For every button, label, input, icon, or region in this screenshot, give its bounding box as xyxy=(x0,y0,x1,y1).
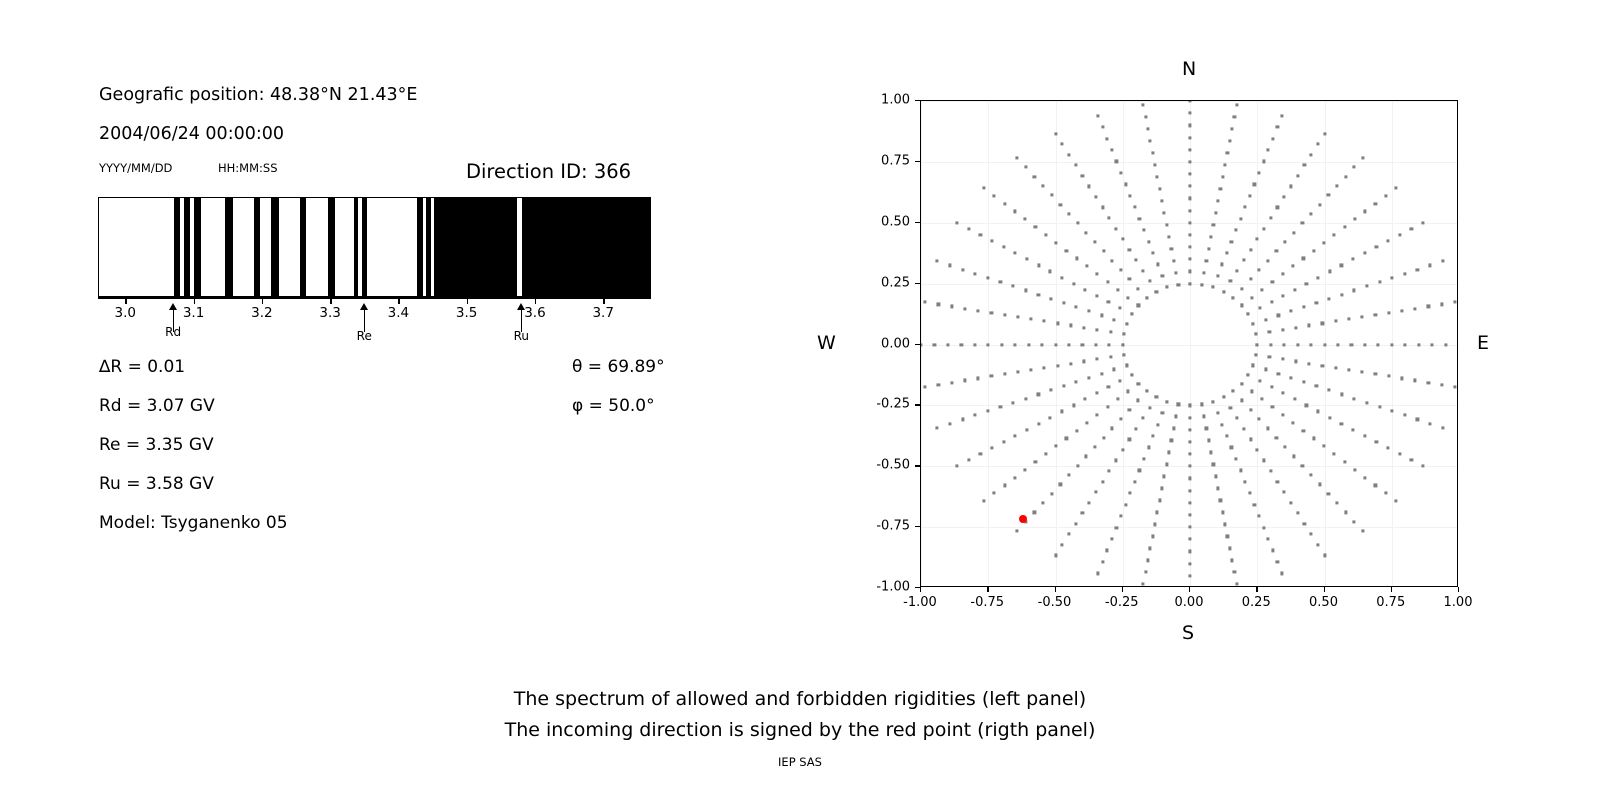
scatter-point xyxy=(1002,440,1005,443)
scatter-point xyxy=(967,459,970,462)
scatter-point xyxy=(1188,270,1191,273)
scatter-point xyxy=(1271,549,1274,552)
scatter-point xyxy=(1156,423,1159,426)
scatter-point xyxy=(986,410,989,413)
scatter-point xyxy=(1353,468,1356,471)
scatter-point xyxy=(950,305,953,308)
scatter-point xyxy=(1110,537,1113,540)
scatter-point xyxy=(1323,554,1326,557)
scatter-point xyxy=(1441,426,1444,429)
scatter-point xyxy=(1146,559,1149,562)
scatter-point xyxy=(1361,529,1364,532)
scatter-point xyxy=(1141,417,1144,420)
scatter-point xyxy=(1138,217,1141,220)
scatter-point xyxy=(1321,364,1324,367)
scatter-point xyxy=(1441,260,1444,263)
scatter-point xyxy=(1130,373,1133,376)
scatter-point xyxy=(1188,501,1191,504)
scatter-point xyxy=(1025,258,1028,261)
scatter-point xyxy=(1111,427,1114,430)
incoming-direction-point xyxy=(1019,515,1027,523)
scatter-point xyxy=(1275,250,1278,253)
scatter-point xyxy=(1384,194,1387,197)
scatter-point xyxy=(1067,533,1070,536)
scatter-point xyxy=(933,343,936,346)
scatter-point xyxy=(1188,282,1191,285)
scatter-point xyxy=(1283,195,1286,198)
scatter-point xyxy=(1270,300,1273,303)
scatter-point xyxy=(1257,515,1260,518)
scatter-point xyxy=(1145,390,1148,393)
scatter-point xyxy=(1230,127,1233,130)
scatter-point xyxy=(1049,389,1052,392)
parameter-left-0: ∆R = 0.01 xyxy=(99,357,185,377)
scatter-point xyxy=(1219,187,1222,190)
y-tick-mark xyxy=(915,344,920,345)
scatter-point xyxy=(1074,164,1077,167)
scatter-point xyxy=(1085,421,1088,424)
scatter-point xyxy=(1453,385,1456,388)
scatter-point xyxy=(1335,501,1338,504)
scatter-point xyxy=(1268,356,1271,359)
scatter-point xyxy=(1276,126,1279,129)
scatter-point xyxy=(1016,315,1019,318)
scatter-point xyxy=(1429,264,1432,267)
scatter-point xyxy=(1214,211,1217,214)
rigidity-tick-label: 3.3 xyxy=(319,305,340,321)
scatter-point xyxy=(1212,463,1215,466)
scatter-point xyxy=(1400,309,1403,312)
scatter-point xyxy=(1249,278,1252,281)
scatter-point xyxy=(1082,360,1085,363)
scatter-point xyxy=(1266,259,1269,262)
scatter-point xyxy=(1149,139,1152,142)
scatter-point xyxy=(1416,418,1419,421)
scatter-point xyxy=(1011,401,1014,404)
scatter-point xyxy=(1416,268,1419,271)
scatter-point xyxy=(1147,240,1150,243)
scatter-point xyxy=(1188,148,1191,151)
scatter-point xyxy=(1328,416,1331,419)
scatter-point xyxy=(1015,529,1018,532)
scatter-point xyxy=(1059,203,1062,206)
rigidity-tick-label: 3.1 xyxy=(183,305,204,321)
scatter-point xyxy=(1088,185,1091,188)
scatter-point xyxy=(1107,386,1110,389)
y-tick-label: 0.50 xyxy=(858,214,910,229)
scatter-point xyxy=(1011,285,1014,288)
x-tick-label: -0.25 xyxy=(1105,595,1139,610)
scatter-point xyxy=(1230,446,1233,449)
scatter-point xyxy=(1082,326,1085,329)
scatter-point xyxy=(1333,452,1336,455)
scatter-point xyxy=(974,414,977,417)
scatter-point xyxy=(1144,571,1147,574)
y-tick-mark xyxy=(915,404,920,405)
scatter-point xyxy=(1124,183,1127,186)
scatter-point xyxy=(1202,415,1205,418)
scatter-point xyxy=(1081,343,1084,346)
scatter-point xyxy=(1353,520,1356,523)
scatter-point xyxy=(1148,280,1151,283)
scatter-point xyxy=(1327,492,1330,495)
scatter-point xyxy=(1353,397,1356,400)
scatter-point xyxy=(1067,473,1070,476)
scatter-point xyxy=(993,492,996,495)
scatter-point xyxy=(1277,314,1280,317)
scatter-point xyxy=(1113,318,1116,321)
parameter-right-1: φ = 50.0° xyxy=(572,396,655,416)
scatter-point xyxy=(1230,240,1233,243)
scatter-point xyxy=(1153,523,1156,526)
x-tick-mark xyxy=(1055,587,1056,592)
scatter-point xyxy=(1365,285,1368,288)
scatter-point xyxy=(1095,294,1098,297)
scatter-point xyxy=(1108,216,1111,219)
scatter-point xyxy=(1133,206,1136,209)
scatter-point xyxy=(1101,206,1104,209)
scatter-point xyxy=(1137,304,1140,307)
scatter-point xyxy=(948,264,951,267)
caption-line-1: The spectrum of allowed and forbidden ri… xyxy=(0,684,1600,715)
scatter-point xyxy=(1353,218,1356,221)
scatter-point xyxy=(950,381,953,384)
scatter-point xyxy=(1188,172,1191,175)
scatter-point xyxy=(1296,512,1299,515)
left-panel: Geografic position: 48.38°N 21.43°E 2004… xyxy=(0,0,800,660)
scatter-point xyxy=(1142,457,1145,460)
direction-id-label: Direction ID: 366 xyxy=(466,160,631,183)
scatter-point xyxy=(1386,239,1389,242)
scatter-point xyxy=(1095,392,1098,395)
scatter-point xyxy=(1343,226,1346,229)
scatter-point xyxy=(1085,231,1088,234)
scatter-point xyxy=(1094,343,1097,346)
scatter-point xyxy=(1158,499,1161,502)
scatter-point xyxy=(1270,386,1273,389)
scatter-point xyxy=(1317,276,1320,279)
scatter-point xyxy=(1151,535,1154,538)
scatter-point xyxy=(1284,445,1287,448)
x-tick-label: 0.50 xyxy=(1309,595,1338,610)
scatter-point xyxy=(1015,156,1018,159)
scatter-point xyxy=(1267,537,1270,540)
scatter-point xyxy=(1252,322,1255,325)
scatter-point xyxy=(1374,313,1377,316)
scatter-point xyxy=(990,375,993,378)
scatter-point xyxy=(1188,489,1191,492)
scatter-point xyxy=(1410,459,1413,462)
x-tick-mark xyxy=(1122,587,1123,592)
scatter-point xyxy=(1054,132,1057,135)
scatter-point xyxy=(1174,415,1177,418)
forbidden-band xyxy=(225,198,233,296)
scatter-point xyxy=(1102,250,1105,253)
scatter-point xyxy=(1072,404,1075,407)
scatter-point xyxy=(1029,318,1032,321)
scatter-point xyxy=(1317,410,1320,413)
scatter-point xyxy=(1340,293,1343,296)
scatter-point xyxy=(1148,406,1151,409)
scatter-point xyxy=(1125,322,1128,325)
scatter-point xyxy=(1129,194,1132,197)
scatter-point xyxy=(946,343,949,346)
scatter-point xyxy=(1364,210,1367,213)
scatter-point xyxy=(1316,143,1319,146)
y-tick-mark xyxy=(915,161,920,162)
scatter-point xyxy=(1280,572,1283,575)
scatter-point xyxy=(1188,136,1191,139)
scatter-point xyxy=(1188,526,1191,529)
forbidden-band xyxy=(362,198,367,296)
scatter-point xyxy=(1253,503,1256,506)
scatter-point xyxy=(1398,452,1401,455)
compass-east-label: E xyxy=(1477,332,1489,354)
scatter-point xyxy=(1209,451,1212,454)
scatter-point xyxy=(1155,396,1158,399)
scatter-point xyxy=(937,383,940,386)
scatter-point xyxy=(1221,511,1224,514)
scatter-point xyxy=(1163,475,1166,478)
scatter-point xyxy=(1323,343,1326,346)
scatter-point xyxy=(1167,451,1170,454)
scatter-point xyxy=(982,499,985,502)
scatter-point xyxy=(1072,282,1075,285)
scatter-point xyxy=(1096,413,1099,416)
scatter-point xyxy=(1281,413,1284,416)
scatter-point xyxy=(1394,186,1397,189)
scatter-point xyxy=(1377,343,1380,346)
scatter-point xyxy=(1312,249,1315,252)
scatter-point xyxy=(1172,259,1175,262)
scatter-point xyxy=(1165,286,1168,289)
marker-label-rd: Rd xyxy=(165,325,181,339)
scatter-point xyxy=(1374,202,1377,205)
marker-label-ru: Ru xyxy=(514,329,529,343)
scatter-point xyxy=(1084,288,1087,291)
scatter-point xyxy=(1188,477,1191,480)
scatter-point xyxy=(1261,398,1264,401)
compass-south-label: S xyxy=(1182,622,1194,644)
scatter-point xyxy=(1044,233,1047,236)
y-tick-mark xyxy=(915,100,920,101)
footer-label: IEP SAS xyxy=(0,755,1600,769)
scatter-point xyxy=(1296,343,1299,346)
scatter-point xyxy=(1040,343,1043,346)
parameter-right-0: θ = 69.89° xyxy=(572,357,665,377)
scatter-point xyxy=(1054,241,1057,244)
scatter-point xyxy=(1013,476,1016,479)
scatter-point xyxy=(1027,343,1030,346)
scatter-point xyxy=(1453,301,1456,304)
y-tick-label: -0.75 xyxy=(858,519,910,534)
scatter-point xyxy=(1056,364,1059,367)
x-tick-label: 0.00 xyxy=(1175,595,1204,610)
scatter-point xyxy=(1303,164,1306,167)
x-tick-mark xyxy=(1189,587,1190,592)
scatter-point xyxy=(1258,379,1261,382)
scatter-point xyxy=(961,418,964,421)
scatter-point xyxy=(1049,270,1052,273)
scatter-point xyxy=(1024,468,1027,471)
x-tick-mark xyxy=(1391,587,1392,592)
scatter-point xyxy=(1188,513,1191,516)
scatter-point xyxy=(1375,246,1378,249)
scatter-point xyxy=(936,426,939,429)
scatter-point xyxy=(1043,366,1046,369)
compass-north-label: N xyxy=(1182,58,1196,80)
scatter-point xyxy=(1124,503,1127,506)
forbidden-band xyxy=(354,198,358,296)
scatter-point xyxy=(1247,373,1250,376)
scatter-point xyxy=(923,301,926,304)
scatter-point xyxy=(1318,483,1321,486)
scatter-point xyxy=(1067,153,1070,156)
scatter-point xyxy=(1309,153,1312,156)
scatter-point xyxy=(1253,183,1256,186)
y-tick-label: -0.50 xyxy=(858,458,910,473)
scatter-point xyxy=(1165,400,1168,403)
scatter-point xyxy=(1144,115,1147,118)
scatter-point xyxy=(1327,389,1330,392)
forbidden-band xyxy=(194,198,202,296)
scatter-point xyxy=(1347,368,1350,371)
scatter-point xyxy=(1003,313,1006,316)
rigidity-tick-label: 3.5 xyxy=(456,305,477,321)
rigidity-tick-label: 3.2 xyxy=(251,305,272,321)
scatter-point xyxy=(1137,287,1140,290)
scatter-point xyxy=(1233,571,1236,574)
scatter-point xyxy=(1115,160,1118,163)
scatter-point xyxy=(1002,246,1005,249)
x-tick-label: 0.25 xyxy=(1242,595,1271,610)
scatter-point xyxy=(1271,137,1274,140)
scatter-point xyxy=(1277,372,1280,375)
scatter-point xyxy=(1014,434,1017,437)
scatter-point xyxy=(1075,429,1078,432)
scatter-point xyxy=(1322,241,1325,244)
scatter-point xyxy=(1350,343,1353,346)
scatter-point xyxy=(1390,343,1393,346)
scatter-point xyxy=(1121,237,1124,240)
scatter-point xyxy=(1075,257,1078,260)
scatter-point xyxy=(1264,318,1267,321)
scatter-point xyxy=(1391,410,1394,413)
y-tick-label: 1.00 xyxy=(858,93,910,108)
scatter-point xyxy=(1156,175,1159,178)
scatter-point xyxy=(1000,343,1003,346)
right-panel: N S W E -1.00-0.75-0.50-0.250.000.250.50… xyxy=(800,0,1600,660)
scatter-point xyxy=(1050,492,1053,495)
scatter-point xyxy=(1207,439,1210,442)
scatter-point xyxy=(1152,251,1155,254)
scatter-point xyxy=(1232,296,1235,299)
scatter-point xyxy=(1093,240,1096,243)
scatter-point xyxy=(1340,264,1343,267)
x-tick-mark xyxy=(987,587,988,592)
forbidden-band xyxy=(174,198,180,296)
scatter-point xyxy=(1216,487,1219,490)
scatter-point xyxy=(1267,148,1270,151)
scatter-point xyxy=(1145,296,1148,299)
direction-plot-frame xyxy=(920,100,1458,587)
parameter-left-3: Ru = 3.58 GV xyxy=(99,474,214,494)
scatter-point xyxy=(1081,174,1084,177)
scatter-point xyxy=(1233,115,1236,118)
forbidden-band xyxy=(184,198,190,296)
scatter-point xyxy=(1353,166,1356,169)
scatter-point xyxy=(1106,137,1109,140)
scatter-point xyxy=(1041,184,1044,187)
scatter-point xyxy=(1361,315,1364,318)
scatter-point xyxy=(1219,499,1222,502)
scatter-point xyxy=(1378,280,1381,283)
scatter-point xyxy=(1429,422,1432,425)
scatter-point xyxy=(1119,306,1122,309)
scatter-point xyxy=(1087,310,1090,313)
scatter-point xyxy=(1387,311,1390,314)
scatter-point xyxy=(1234,457,1237,460)
scatter-point xyxy=(1417,343,1420,346)
scatter-point xyxy=(1142,228,1145,231)
scatter-point xyxy=(1318,203,1321,206)
scatter-point xyxy=(1229,280,1232,283)
scatter-point xyxy=(1301,464,1304,467)
rigidity-tick xyxy=(535,297,537,304)
scatter-point xyxy=(1291,265,1294,268)
scatter-point xyxy=(1247,312,1250,315)
scatter-point xyxy=(1149,547,1152,550)
scatter-point xyxy=(1129,492,1132,495)
scatter-point xyxy=(1128,278,1131,281)
scatter-point xyxy=(1258,418,1261,421)
scatter-point xyxy=(1034,460,1037,463)
forbidden-band xyxy=(417,198,422,296)
scatter-point xyxy=(993,194,996,197)
scatter-point xyxy=(1244,206,1247,209)
marker-label-re: Re xyxy=(357,329,372,343)
scatter-point xyxy=(1096,358,1099,361)
scatter-point xyxy=(973,343,976,346)
scatter-point xyxy=(1266,427,1269,430)
scatter-point xyxy=(990,446,993,449)
scatter-point xyxy=(1364,476,1367,479)
scatter-point xyxy=(1221,175,1224,178)
scatter-point xyxy=(1125,364,1128,367)
scatter-point xyxy=(1029,368,1032,371)
scatter-point xyxy=(1049,297,1052,300)
scatter-point xyxy=(1269,469,1272,472)
scatter-point xyxy=(976,377,979,380)
forbidden-band xyxy=(426,198,431,296)
scatter-point xyxy=(1271,406,1274,409)
scatter-point xyxy=(1121,343,1124,346)
scatter-point xyxy=(990,311,993,314)
scatter-point xyxy=(1248,194,1251,197)
scatter-point xyxy=(1308,362,1311,365)
scatter-point xyxy=(1060,276,1063,279)
scatter-point xyxy=(1127,296,1130,299)
scatter-point xyxy=(1282,294,1285,297)
scatter-point xyxy=(1226,535,1229,538)
scatter-point xyxy=(1244,480,1247,483)
scatter-point xyxy=(1128,408,1131,411)
scatter-point xyxy=(1096,572,1099,575)
rigidity-spectrum xyxy=(98,197,651,297)
scatter-point xyxy=(923,385,926,388)
rigidity-tick-label: 3.4 xyxy=(388,305,409,321)
scatter-point xyxy=(999,405,1002,408)
